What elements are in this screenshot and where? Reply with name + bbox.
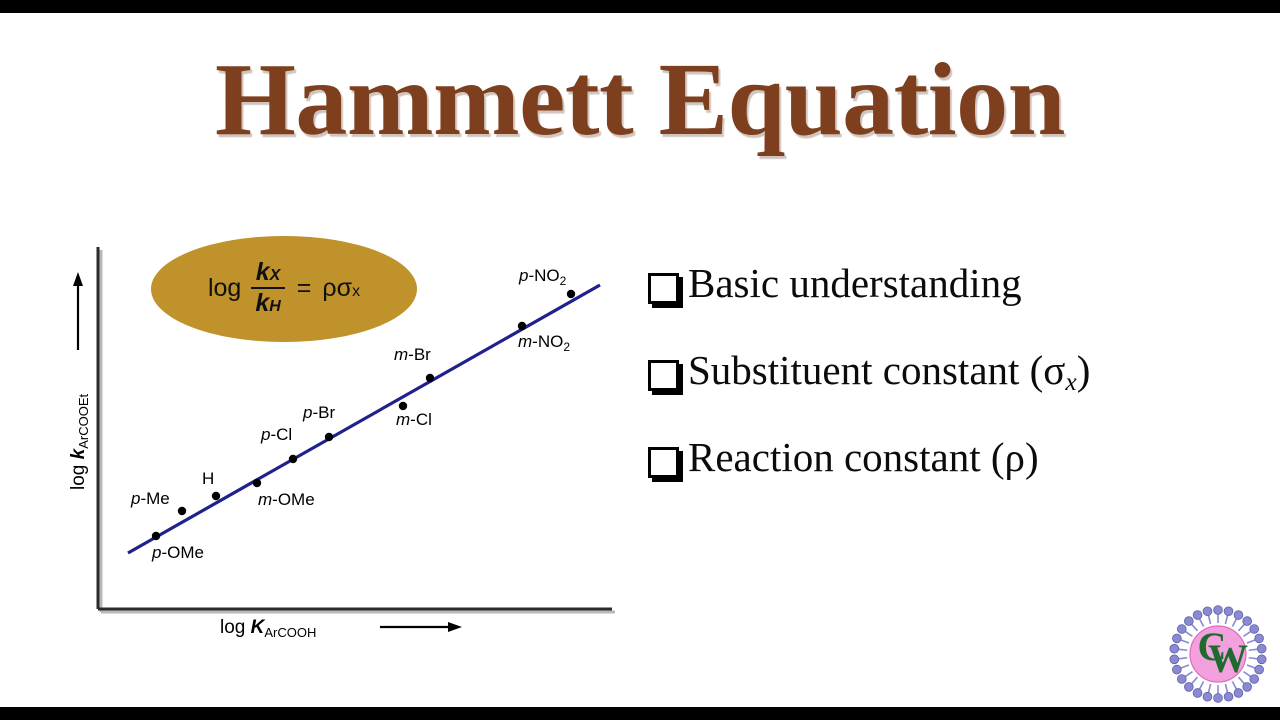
equation-rho-sigma: ρσx	[322, 274, 360, 303]
equation-callout: log kX kH = ρσx	[151, 236, 417, 342]
label-p-Br: p-Br	[302, 403, 335, 422]
y-axis-arrow	[73, 272, 83, 350]
hollow-square-icon	[648, 360, 679, 391]
bullet-item-reaction-constant[interactable]: Reaction constant (ρ)	[648, 436, 1248, 479]
label-m-OMe: m-OMe	[258, 490, 315, 509]
channel-logo[interactable]: C W	[1168, 604, 1268, 704]
data-point-m-OMe	[253, 479, 261, 487]
slide-title: Hammett Equation	[0, 44, 1280, 156]
hollow-square-icon	[648, 273, 679, 304]
label-H: H	[202, 469, 214, 488]
equation-log: log	[208, 274, 241, 303]
data-point-p-Me	[178, 507, 186, 515]
label-m-Cl: m-Cl	[396, 410, 432, 429]
equation-denominator: kH	[251, 287, 284, 316]
label-p-Me: p-Me	[130, 489, 170, 508]
data-point-m-Br	[426, 374, 434, 382]
data-point-p-Cl	[289, 455, 297, 463]
data-point-m-Cl	[399, 402, 407, 410]
data-point-p-OMe	[152, 532, 160, 540]
label-m-NO2: m-NO2	[518, 332, 570, 354]
bullet-label: Basic understanding	[688, 262, 1022, 305]
label-m-Br: m-Br	[394, 345, 431, 364]
bullet-label: Reaction constant (ρ)	[688, 436, 1039, 479]
x-axis-arrow	[380, 622, 462, 632]
equation-numerator: kX	[252, 260, 285, 287]
logo-letter-w: W	[1208, 636, 1248, 681]
equation-equals: =	[295, 274, 314, 303]
data-point-p-NO2	[567, 290, 575, 298]
bullet-item-basic-understanding[interactable]: Basic understanding	[648, 262, 1248, 305]
x-axis-label: log KArCOOH	[220, 617, 316, 640]
hammett-equation: log kX kH = ρσx	[208, 260, 360, 316]
bullet-list: Basic understanding Substituent constant…	[648, 262, 1248, 523]
slide-canvas: Hammett Equation log kArCOOEt log KAr	[0, 0, 1280, 720]
bullet-item-substituent-constant[interactable]: Substituent constant (σx)	[648, 349, 1248, 392]
letterbox-bottom	[0, 707, 1280, 720]
bullet-label: Substituent constant (σx)	[688, 349, 1090, 392]
hollow-square-icon	[648, 447, 679, 478]
data-point-m-NO2	[518, 322, 526, 330]
label-p-Cl: p-Cl	[260, 425, 292, 444]
data-point-H	[212, 492, 220, 500]
letterbox-top	[0, 0, 1280, 13]
equation-fraction: kX kH	[251, 260, 284, 316]
data-point-p-Br	[325, 433, 333, 441]
label-p-OMe: p-OMe	[151, 543, 204, 562]
label-p-NO2: p-NO2	[518, 266, 567, 288]
y-axis-label: log kArCOOEt	[68, 393, 91, 490]
